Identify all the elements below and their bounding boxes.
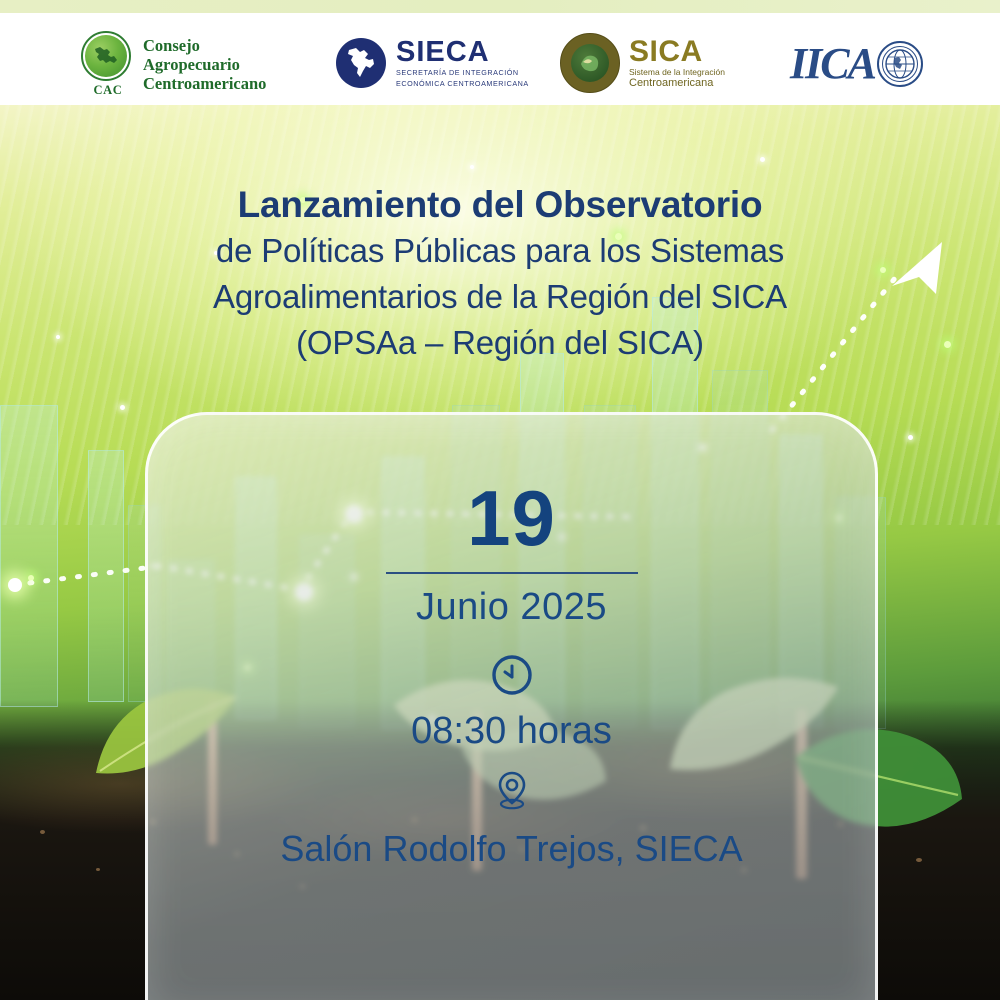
logo-cac: CAC Consejo Agropecuario Centroamericano [78,31,266,97]
map-pin-icon [494,769,530,813]
logo-sica: SICA Sistema de la Integración Centroame… [560,33,725,93]
sica-dove-icon [577,50,603,76]
glass-bar [88,450,124,702]
sica-acronym: SICA [629,37,725,66]
title-line-1: Lanzamiento del Observatorio [0,182,1000,228]
cac-acronym: CAC [85,83,131,98]
event-month-year: Junio 2025 [145,586,878,629]
title-line-4: (OPSAa – Región del SICA) [0,320,1000,366]
globe-icon [884,48,916,80]
central-america-map-icon [93,44,119,69]
sparkle [760,157,765,162]
clock-icon [490,653,534,697]
date-divider [386,572,638,574]
title-line-2: de Políticas Públicas para los Sistemas [0,228,1000,274]
event-details: 19 Junio 2025 08:30 horas Salón Rodolfo … [145,412,878,870]
logo-sieca: SIECA SECRETARÍA DE INTEGRACIÓN ECONÓMIC… [336,38,529,88]
event-poster: CAC Consejo Agropecuario Centroamericano… [0,0,1000,1000]
sieca-acronym: SIECA [396,38,529,66]
event-time: 08:30 horas [145,710,878,753]
sica-emblem-icon [560,33,620,93]
sieca-subtitle-2: ECONÓMICA CENTROAMERICANA [396,79,529,88]
event-venue: Salón Rodolfo Trejos, SIECA [145,828,878,870]
cac-emblem-icon: CAC [78,31,134,97]
event-day: 19 [145,480,878,556]
sieca-wordmark: SIECA SECRETARÍA DE INTEGRACIÓN ECONÓMIC… [396,38,529,88]
sica-subtitle-2: Centroamericana [629,77,725,89]
logo-bar: CAC Consejo Agropecuario Centroamericano… [0,13,1000,105]
central-america-map-icon [346,46,376,80]
sica-wordmark: SICA Sistema de la Integración Centroame… [629,37,725,90]
page-title: Lanzamiento del Observatorio de Política… [0,182,1000,366]
network-node [8,578,22,592]
iica-acronym: IICA [790,42,875,86]
sieca-subtitle-1: SECRETARÍA DE INTEGRACIÓN [396,68,529,77]
glass-bar [0,405,58,707]
top-accent-band [0,0,1000,13]
sica-subtitle-1: Sistema de la Integración [629,67,725,78]
sparkle [908,435,913,440]
sparkle [470,165,474,169]
sieca-emblem-icon [336,38,386,88]
sparkle [120,405,125,410]
title-line-3: Agroalimentarios de la Región del SICA [0,274,1000,320]
cac-line-2: Agropecuario [143,55,266,74]
cac-wordmark: Consejo Agropecuario Centroamericano [143,36,266,93]
cac-line-1: Consejo [143,36,266,55]
logo-iica: IICA [790,41,923,87]
iica-globe-seal-icon [877,41,923,87]
cac-line-3: Centroamericano [143,74,266,93]
sparkle [28,575,34,581]
